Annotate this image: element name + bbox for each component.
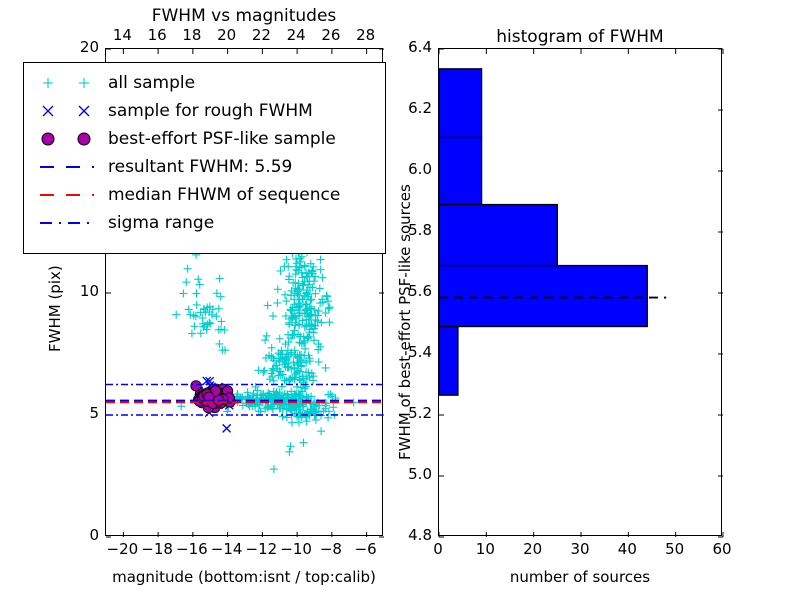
left-panel-xlabel: magnitude (bottom:isnt / top:calib) [105,568,383,586]
plot-legend: all samplesample for rough FWHMbest-effo… [23,62,386,254]
legend-item[interactable]: median FHWM of sequence [32,181,377,209]
left-top-tick-label: 28 [346,26,386,44]
legend-item[interactable]: all sample [32,69,377,97]
legend-item-label: sample for rough FWHM [106,101,313,121]
right-y-tick-label: 6.4 [386,38,432,56]
left-y-tick-label: 20 [57,38,99,56]
legend-item-label: resultant FWHM: 5.59 [106,157,292,177]
legend-item-label: all sample [106,73,195,93]
right-x-tick-label: 50 [655,540,695,558]
fwhm-histogram-plot[interactable] [438,48,722,536]
histogram-canvas [439,49,723,537]
right-x-tick-label: 60 [702,540,742,558]
legend-plus-icon [32,69,106,97]
right-x-tick-label: 10 [465,540,505,558]
left-y-tick-label: 5 [57,404,99,422]
right-x-tick-label: 40 [607,540,647,558]
legend-item[interactable]: sample for rough FWHM [32,97,377,125]
legend-circle-icon [32,125,106,153]
legend-item-label: best-effort PSF-like sample [106,129,336,149]
right-x-tick-label: 30 [560,540,600,558]
right-y-tick-label: 6.0 [386,160,432,178]
left-bottom-tick-label: −6 [344,540,388,558]
legend-dashdot-line-icon [32,209,106,237]
legend-item-label: median FHWM of sequence [106,185,340,205]
right-panel-ylabel: FWHM of best-effort PSF-like sources [396,184,414,460]
left-panel-ylabel: FWHM (pix) [46,265,64,352]
legend-item[interactable]: sigma range [32,209,377,237]
legend-dashed-line-icon [32,153,106,181]
legend-item[interactable]: best-effort PSF-like sample [32,125,377,153]
legend-item[interactable]: resultant FWHM: 5.59 [32,153,377,181]
legend-dashed-line-icon [32,181,106,209]
right-panel-title: histogram of FWHM [438,27,722,47]
right-y-tick-label: 4.8 [386,526,432,544]
right-x-tick-label: 20 [513,540,553,558]
left-y-tick-label: 0 [57,526,99,544]
left-panel-title: FWHM vs magnitudes [105,6,383,26]
legend-item-label: sigma range [106,213,214,233]
right-panel-xlabel: number of sources [438,568,722,586]
right-y-tick-label: 6.2 [386,99,432,117]
legend-cross-icon [32,97,106,125]
figure-canvas: FWHM vs magnitudes 1416182022242628 −20−… [0,0,800,600]
right-y-tick-label: 5.0 [386,465,432,483]
